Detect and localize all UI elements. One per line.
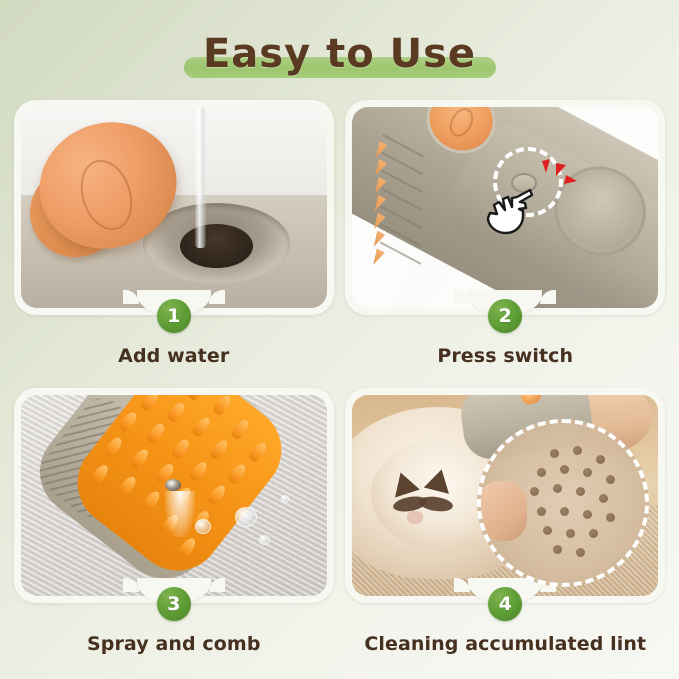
step-2-number-badge: 2: [488, 299, 522, 333]
cat-eye-right: [418, 495, 454, 514]
click-burst-icon: [536, 159, 582, 193]
cat-ear-right: [424, 466, 455, 494]
fill-hole: [180, 224, 253, 268]
step-card-1[interactable]: 1 Add water: [10, 100, 338, 388]
step-4-photo-frame: 4: [345, 388, 665, 603]
thumb-finger: [477, 481, 526, 541]
steps-grid: 1 Add water: [0, 100, 679, 675]
water-stream: [195, 107, 206, 248]
steam-nozzle: [165, 479, 181, 491]
lint-closeup-inset: [477, 419, 649, 587]
step-2-photo-frame: 2: [345, 100, 665, 315]
step-2-image: [352, 107, 658, 308]
step-card-4[interactable]: 4 Cleaning accumulated lint: [342, 388, 670, 676]
step-1-photo-frame: 1: [14, 100, 334, 315]
steam-mist: [165, 491, 195, 537]
step-3-caption: Spray and comb: [87, 633, 261, 655]
cat-nose: [407, 511, 423, 524]
page-header: Easy to Use: [0, 18, 679, 90]
step-4-number-badge: 4: [488, 587, 522, 621]
step-1-number-badge: 1: [157, 299, 191, 333]
device-orange-button: [520, 395, 542, 407]
step-3-image: [21, 395, 327, 596]
step-3-number-badge: 3: [157, 587, 191, 621]
water-droplet: [281, 495, 289, 503]
step-3-photo-frame: 3: [14, 388, 334, 603]
step-1-image: [21, 107, 327, 308]
page-title: Easy to Use: [203, 31, 476, 77]
step-card-2[interactable]: 2 Press switch: [342, 100, 670, 388]
step-4-caption: Cleaning accumulated lint: [364, 633, 646, 655]
step-1-caption: Add water: [118, 345, 229, 367]
cat-ear-left: [388, 469, 420, 498]
step-card-3[interactable]: 3 Spray and comb: [10, 388, 338, 676]
step-4-image: [352, 395, 658, 596]
step-2-caption: Press switch: [437, 345, 573, 367]
hand-pointer-cursor-icon: [484, 187, 536, 241]
water-droplet: [235, 507, 257, 527]
